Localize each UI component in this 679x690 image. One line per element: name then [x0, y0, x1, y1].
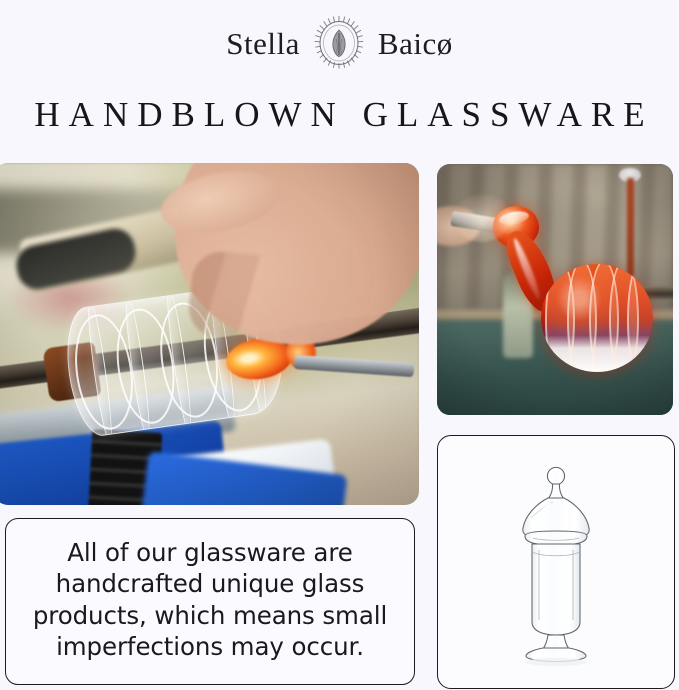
product-photo-card [437, 435, 675, 689]
page-title: HANDBLOWN GLASSWARE [0, 96, 679, 135]
clear-glass-apothecary-jar [481, 462, 631, 673]
product-listing-image: Stella [0, 0, 679, 690]
photo-molten-red-glass-on-rod [437, 164, 673, 415]
photo-vignette [0, 163, 419, 505]
scalloped-oval-shell-emblem-icon [310, 12, 368, 74]
disclaimer-text: All of our glassware are handcrafted uni… [20, 537, 400, 661]
brand-name-left: Stella [226, 28, 300, 59]
photo-vignette [437, 164, 673, 415]
brand-logo: Stella [0, 12, 679, 74]
photo-glassblower-shaping-clear-vessel [0, 163, 419, 505]
disclaimer-box: All of our glassware are handcrafted uni… [5, 518, 415, 685]
brand-name-right: Baicø [378, 28, 453, 59]
